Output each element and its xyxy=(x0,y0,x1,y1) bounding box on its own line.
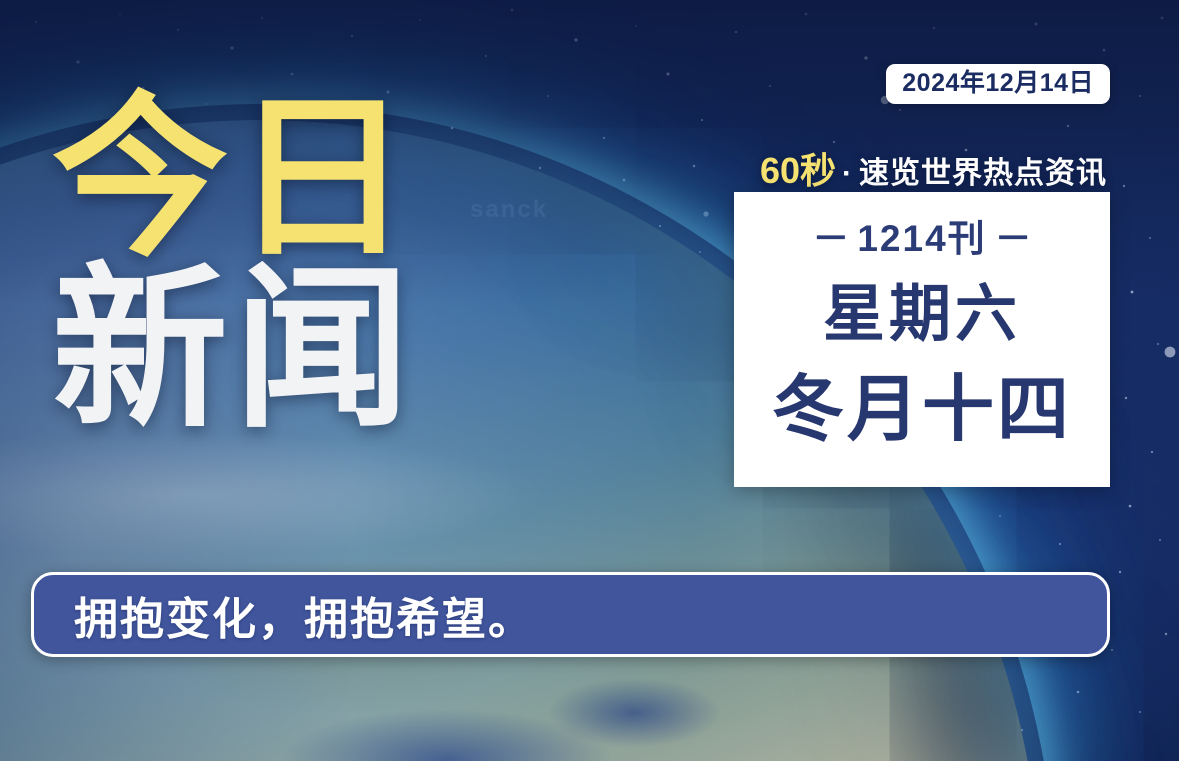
lunar-date-label: 冬月十四 xyxy=(772,374,1072,446)
issue-dash-left: － xyxy=(804,218,857,259)
page-title-line1: 今日 xyxy=(52,96,416,261)
date-badge: 2024年12月14日 xyxy=(886,64,1110,104)
quote-banner: 拥抱变化，拥抱希望。 xyxy=(31,572,1110,657)
tagline-seconds: 60秒 xyxy=(760,150,836,191)
tagline-description: 速览世界热点资讯 xyxy=(859,157,1107,190)
issue-number: 1214刊 xyxy=(857,218,986,259)
issue-number-row: －1214刊－ xyxy=(804,208,1039,262)
news-poster: sanck 今日 新闻 2024年12月14日 60秒·速览世界热点资讯 －12… xyxy=(0,0,1179,761)
quote-banner-text: 拥抱变化，拥抱希望。 xyxy=(34,583,534,647)
date-info-card: －1214刊－ 星期六 冬月十四 xyxy=(734,192,1110,487)
weekday-label: 星期六 xyxy=(823,284,1021,346)
tagline: 60秒·速览世界热点资讯 xyxy=(760,142,1107,194)
issue-dash-right: － xyxy=(987,218,1040,259)
page-title-line2: 新闻 xyxy=(52,267,416,432)
page-title: 今日 新闻 xyxy=(52,96,416,433)
tagline-separator: · xyxy=(836,157,859,190)
